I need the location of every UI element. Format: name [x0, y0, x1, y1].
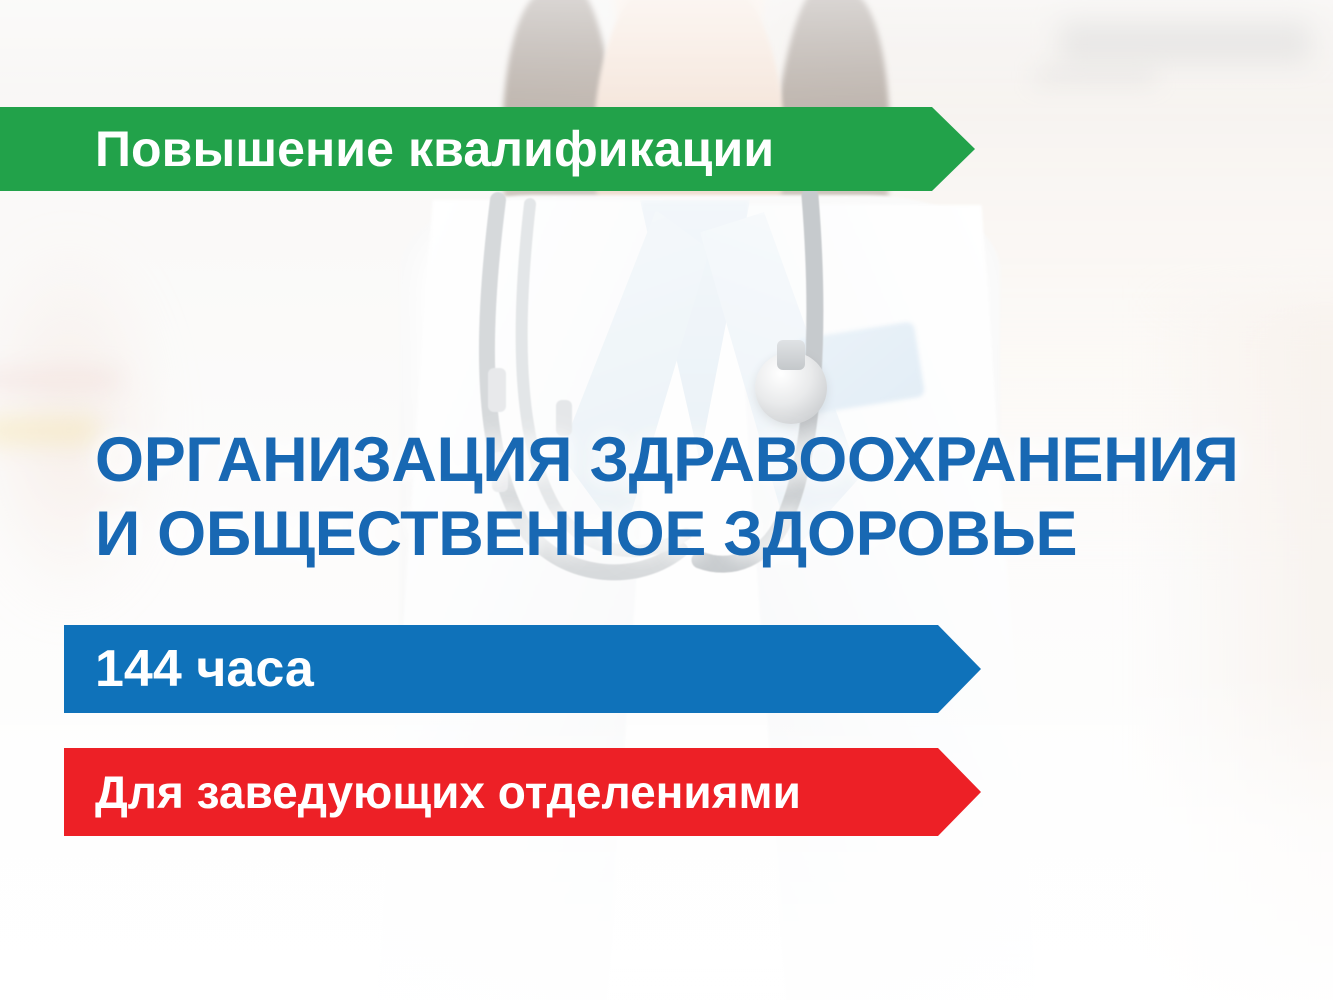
page-title-line-1: ОРГАНИЗАЦИЯ ЗДРАВООХРАНЕНИЯ [95, 424, 1275, 498]
audience-banner: Для заведующих отделениями [64, 748, 981, 836]
page-title: ОРГАНИЗАЦИЯ ЗДРАВООХРАНЕНИЯ И ОБЩЕСТВЕНН… [95, 424, 1275, 571]
page-title-line-2: И ОБЩЕСТВЕННОЕ ЗДОРОВЬЕ [95, 498, 1275, 572]
hours-banner-label: 144 часа [95, 643, 314, 695]
category-banner-label: Повышение квалификации [95, 124, 774, 174]
category-banner: Повышение квалификации [0, 107, 975, 191]
hours-banner: 144 часа [64, 625, 981, 713]
audience-banner-label: Для заведующих отделениями [95, 769, 801, 815]
